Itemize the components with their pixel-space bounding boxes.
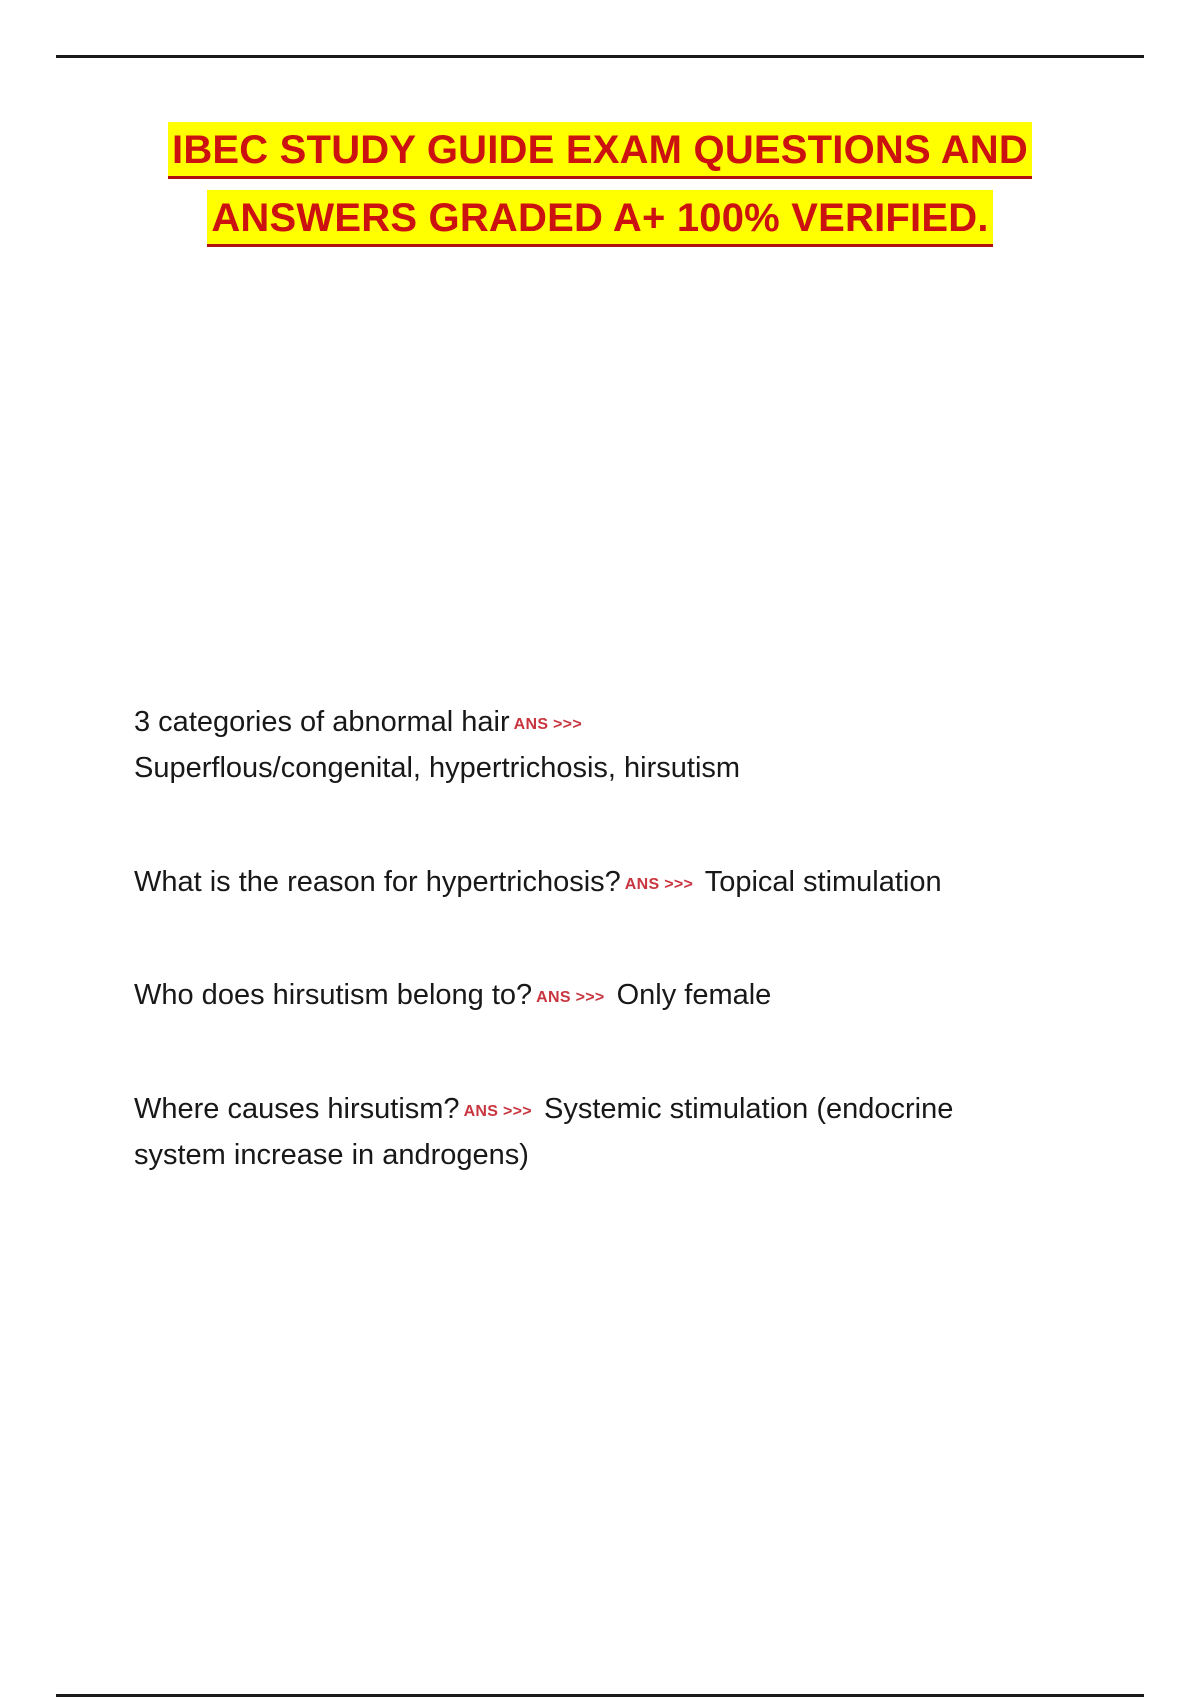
answer-text: Topical stimulation <box>705 866 942 898</box>
qa-block-2: What is the reason for hypertrichosis?AN… <box>134 860 994 906</box>
qa-block-3: Who does hirsutism belong to?ANS >>> Onl… <box>134 973 994 1019</box>
page-top-rule <box>56 55 1144 58</box>
answer-text: Superflous/congenital, hypertrichosis, h… <box>134 752 740 784</box>
question-text: What is the reason for hypertrichosis? <box>134 866 621 898</box>
ans-marker: ANS >>> <box>532 989 608 1006</box>
ans-marker: ANS >>> <box>621 876 697 893</box>
ans-marker: ANS >>> <box>510 716 586 733</box>
title-line-1-text: IBEC STUDY GUIDE EXAM QUESTIONS AND <box>168 122 1032 179</box>
qa-block-1: 3 categories of abnormal hairANS >>>Supe… <box>134 700 994 792</box>
ans-marker: ANS >>> <box>460 1103 536 1120</box>
qa-list: 3 categories of abnormal hairANS >>>Supe… <box>134 700 994 1179</box>
title-line-2: ANSWERS GRADED A+ 100% VERIFIED. <box>0 198 1200 238</box>
page-bottom-rule <box>56 1694 1144 1697</box>
qa-block-4: Where causes hirsutism?ANS >>> Systemic … <box>134 1087 994 1179</box>
document-page: IBEC STUDY GUIDE EXAM QUESTIONS AND ANSW… <box>0 0 1200 1700</box>
answer-text: Only female <box>617 979 772 1011</box>
title-line-2-text: ANSWERS GRADED A+ 100% VERIFIED. <box>207 190 992 247</box>
question-text: 3 categories of abnormal hair <box>134 706 510 738</box>
question-text: Who does hirsutism belong to? <box>134 979 532 1011</box>
title-line-1: IBEC STUDY GUIDE EXAM QUESTIONS AND <box>0 130 1200 170</box>
document-title: IBEC STUDY GUIDE EXAM QUESTIONS AND ANSW… <box>0 130 1200 238</box>
question-text: Where causes hirsutism? <box>134 1093 460 1125</box>
